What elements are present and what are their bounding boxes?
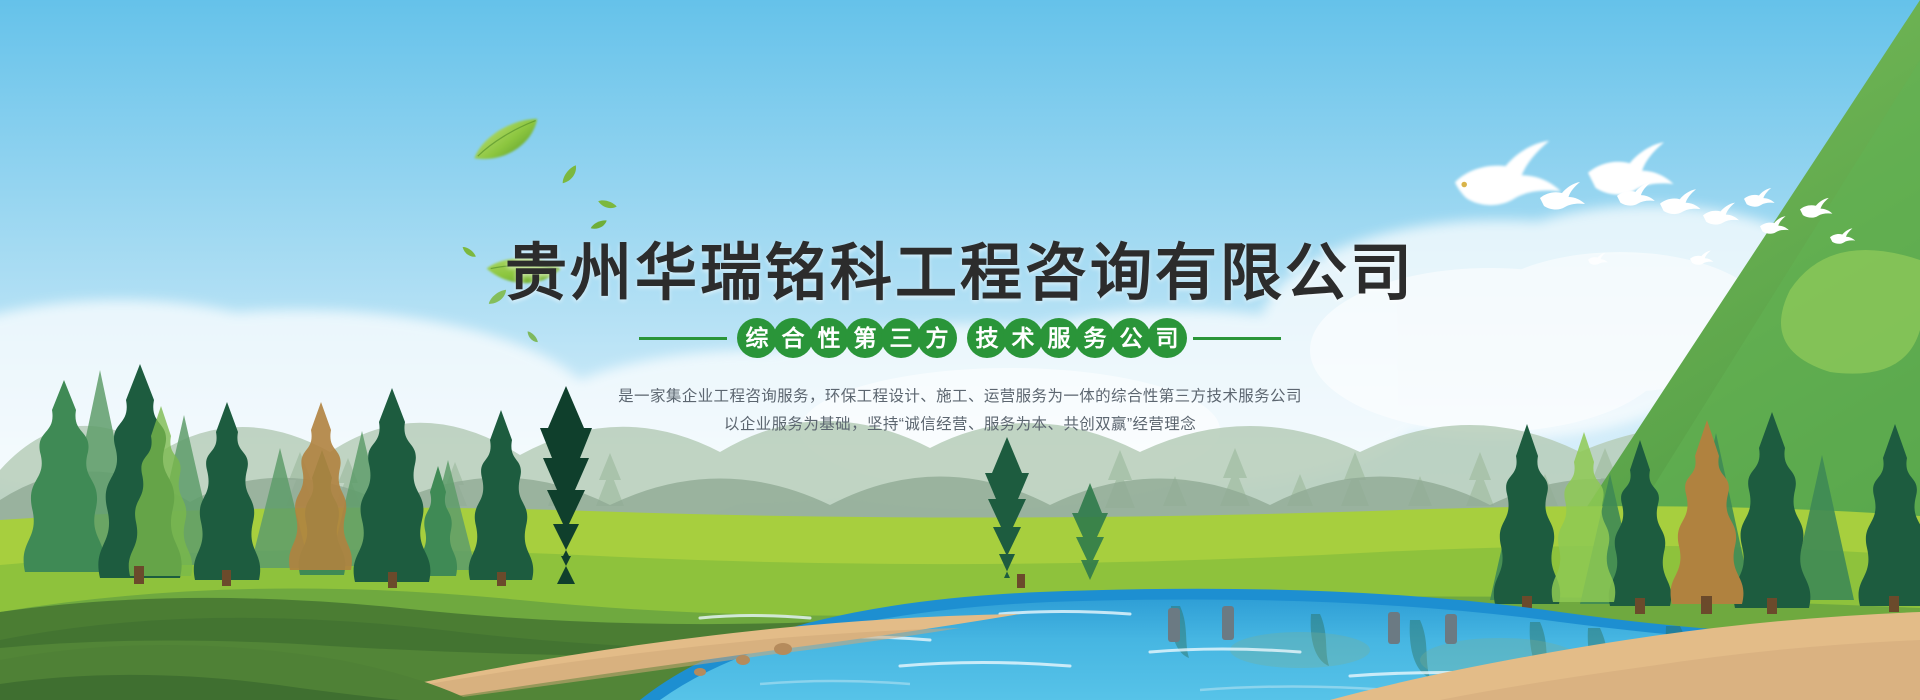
company-banner: 贵州华瑞铭科工程咨询有限公司 综 合 性 第 三 方 技 术 服 务 公 司 是…: [0, 0, 1920, 700]
landscape-illustration: [0, 0, 1920, 700]
